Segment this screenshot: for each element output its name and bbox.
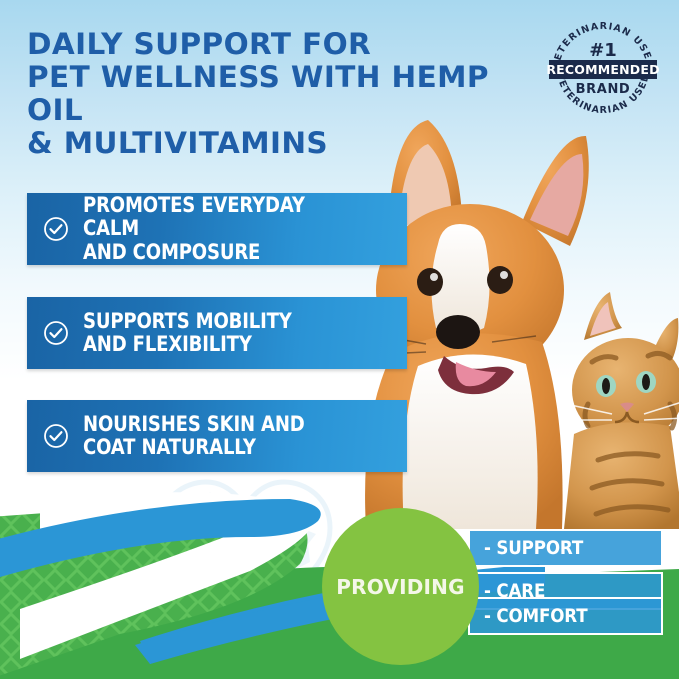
check-circle-icon — [43, 423, 69, 449]
check-circle-icon — [43, 320, 69, 346]
feature-label-1: PROMOTES EVERYDAY CALM AND COMPOSURE — [83, 194, 362, 265]
feature-bar-1: PROMOTES EVERYDAY CALM AND COMPOSURE — [27, 193, 407, 265]
feature-label-2: SUPPORTS MOBILITY AND FLEXIBILITY — [83, 310, 292, 357]
benefit-label-3: - COMFORT — [484, 605, 587, 627]
check-circle-icon — [43, 216, 69, 242]
feature-label-3: NOURISHES SKIN AND COAT NATURALLY — [83, 413, 305, 460]
bengal-cat-illustration — [564, 292, 679, 529]
badge-rank-text: #1 — [589, 40, 617, 61]
product-infographic: B P DAILY SUPPORT FOR PET WELLNESS WITH … — [0, 0, 679, 679]
benefit-bar-support: - SUPPORT — [468, 529, 663, 567]
providing-circle: PROVIDING — [322, 508, 479, 665]
badge-sub-text: BRAND — [576, 82, 631, 97]
providing-label: PROVIDING — [336, 575, 464, 599]
feature-bar-2: SUPPORTS MOBILITY AND FLEXIBILITY — [27, 297, 407, 369]
benefit-bar-comfort: - COMFORT — [468, 597, 663, 635]
vet-recommended-badge: VETERINARIAN USED VETERINARIAN USED #1 R… — [543, 19, 663, 113]
feature-bar-3: NOURISHES SKIN AND COAT NATURALLY — [27, 400, 407, 472]
benefit-label-1: - SUPPORT — [484, 537, 583, 559]
badge-banner-text: RECOMMENDED — [546, 62, 659, 77]
